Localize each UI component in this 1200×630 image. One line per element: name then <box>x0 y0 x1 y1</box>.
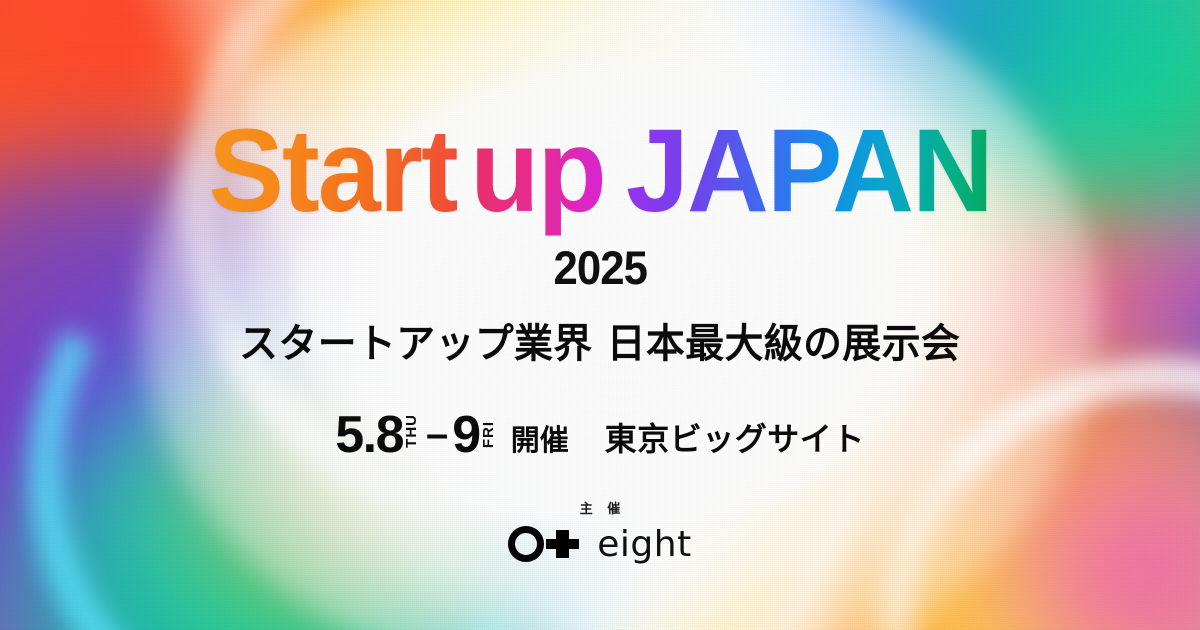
organizer-logo-wordmark: eight <box>597 527 691 563</box>
wordmark-start: Start <box>208 105 456 237</box>
event-dateline: 5.8 THU – 9 FRI 開催 東京ビッグサイト <box>335 409 865 462</box>
wordmark-japan: JAPAN <box>626 105 992 237</box>
poster-content: StartupJAPAN 2025 スタートアップ業界 日本最大級の展示会 5.… <box>0 0 1200 630</box>
event-venue: 東京ビッグサイト <box>605 414 865 460</box>
date-start-day: 5.8 <box>335 409 403 461</box>
date-end-day: 9 <box>452 409 479 461</box>
date-start-dow: THU <box>404 414 419 448</box>
wordmark-up: up <box>470 105 605 237</box>
organizer-logo: eight <box>508 526 691 562</box>
organizer-label: 主 催 <box>575 498 626 517</box>
event-tagline: スタートアップ業界 日本最大級の展示会 <box>239 311 960 369</box>
date-separator: – <box>426 414 448 454</box>
eight-logo-mark <box>508 526 584 562</box>
organizer-block: 主 催 eight <box>508 498 691 562</box>
event-year: 2025 <box>553 240 647 295</box>
event-wordmark: StartupJAPAN <box>208 112 992 230</box>
date-end-dow: FRI <box>481 421 496 448</box>
date-held-label: 開催 <box>511 417 569 459</box>
poster-canvas: StartupJAPAN 2025 スタートアップ業界 日本最大級の展示会 5.… <box>0 0 1200 630</box>
